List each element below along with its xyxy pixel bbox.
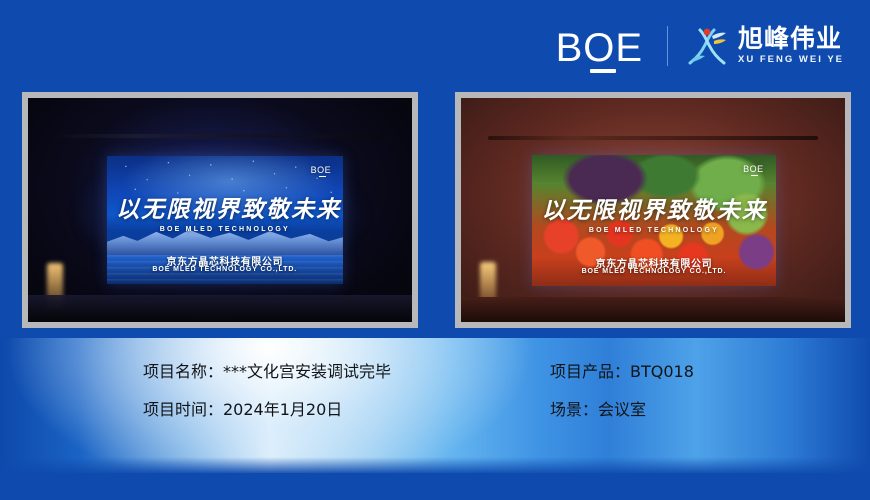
led-display-right: BOE 以无限视界致敬未来 BOE MLED TECHNOLOGY 京东方晶芯科… [532,155,776,286]
led-headline-right: 以无限视界致敬未来 [542,191,766,225]
led-display-left: BOE 以无限视界致敬未来 BOE MLED TECHNOLOGY 京东方晶芯科… [107,156,343,284]
floor [28,295,412,322]
slide-header: BOE 旭峰伟业 XU FENG WEI [0,0,870,88]
photo-right[interactable]: BOE 以无限视界致敬未来 BOE MLED TECHNOLOGY 京东方晶芯科… [455,92,851,328]
floor [461,297,845,322]
led-boe-badge-left: BOE [311,165,332,177]
photo-right-image: BOE 以无限视界致敬未来 BOE MLED TECHNOLOGY 京东方晶芯科… [461,98,845,322]
partner-logo: 旭峰伟业 XU FENG WEI YE [684,23,844,69]
slide-canvas: BOE 旭峰伟业 XU FENG WEI [0,0,870,500]
boe-logo-text: BOE [556,28,643,68]
info-column-right: 项目产品：BTQ018 场景：会议室 [550,362,694,438]
ceiling-beam [55,134,385,138]
photo-left[interactable]: BOE 以无限视界致敬未来 BOE MLED TECHNOLOGY 京东方晶芯科… [22,92,418,328]
info-project-name: 项目名称：***文化宫安装调试完毕 [143,362,391,381]
led-subline-right: BOE MLED TECHNOLOGY [589,227,719,234]
info-panel: 项目名称：***文化宫安装调试完毕 项目时间：2024年1月20日 项目产品：B… [0,338,870,473]
boe-logo-underline-icon [590,69,616,73]
led-headline-left: 以无限视界致敬未来 [116,190,333,224]
led-boe-badge-right: BOE [743,164,764,176]
info-project-date: 项目时间：2024年1月20日 [143,400,391,419]
brand-lockup: BOE 旭峰伟业 XU FENG WEI [556,20,844,72]
photo-left-image: BOE 以无限视界致敬未来 BOE MLED TECHNOLOGY 京东方晶芯科… [28,98,412,322]
ceiling-beam [488,136,818,140]
boe-logo: BOE [556,24,647,68]
partner-name-block: 旭峰伟业 XU FENG WEI YE [738,26,844,66]
info-project-scene: 场景：会议室 [550,400,694,419]
led-company-en-left: BOE MLED TECHNOLOGY CO.,LTD. [152,266,297,273]
info-column-left: 项目名称：***文化宫安装调试完毕 项目时间：2024年1月20日 [143,362,391,438]
xf-bird-mark-icon [684,23,730,69]
info-project-product: 项目产品：BTQ018 [550,362,694,381]
led-subline-left: BOE MLED TECHNOLOGY [160,226,290,233]
partner-name-cn: 旭峰伟业 [738,26,844,52]
partner-name-en: XU FENG WEI YE [738,54,844,66]
led-company-en-right: BOE MLED TECHNOLOGY CO.,LTD. [582,268,727,275]
brand-divider [667,26,668,66]
